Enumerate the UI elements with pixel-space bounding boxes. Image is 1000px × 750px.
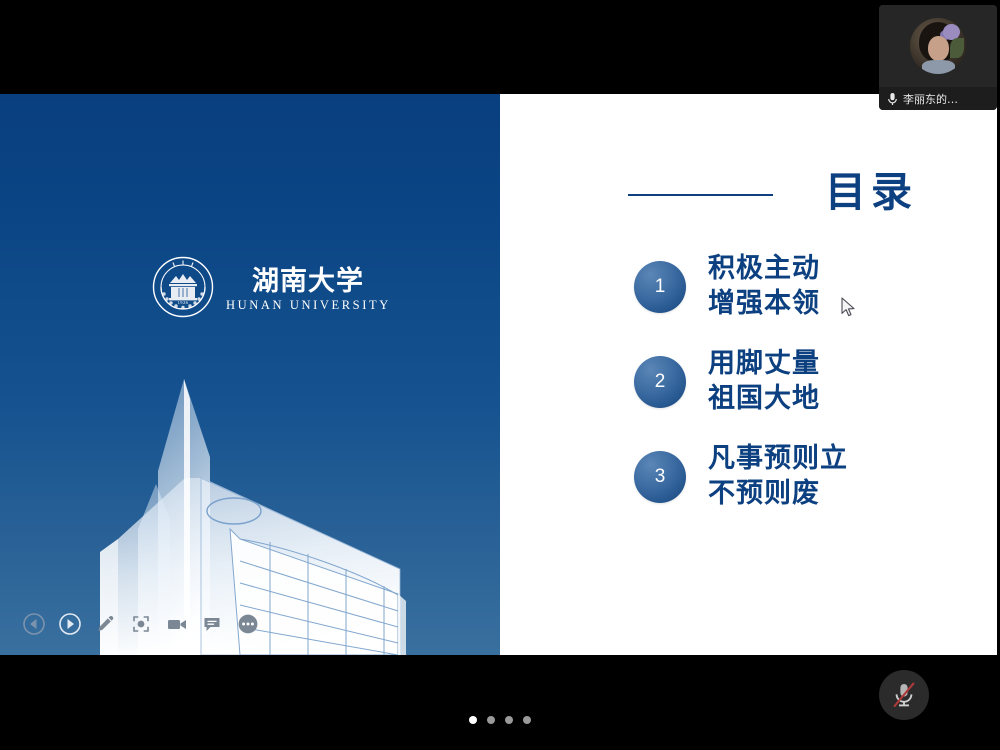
- laser-pointer-button[interactable]: [123, 609, 159, 639]
- toc-item-line1: 用脚丈量: [708, 347, 820, 382]
- toc-number-badge: 2: [634, 356, 686, 408]
- toc-item-line2: 不预则废: [708, 477, 848, 512]
- toc-item-line1: 积极主动: [708, 252, 820, 287]
- presenter-toolbar[interactable]: [16, 609, 266, 639]
- avatar-body: [922, 60, 955, 74]
- university-logo: 1926 湖南大学 HUNAN UNIVERSITY: [152, 254, 357, 320]
- toc-item-line1: 凡事预则立: [708, 442, 848, 477]
- mute-toggle-button[interactable]: [879, 670, 929, 720]
- list-item[interactable]: 1 积极主动 增强本领: [634, 252, 994, 321]
- university-name-en: HUNAN UNIVERSITY: [226, 299, 391, 312]
- toc-item-line2: 祖国大地: [708, 382, 820, 417]
- slide-left-panel: 1926 湖南大学 HUNAN UNIVERSITY: [0, 94, 500, 655]
- title-rule-divider: [628, 194, 773, 196]
- toc-number-badge: 1: [634, 261, 686, 313]
- more-options-button[interactable]: [230, 609, 266, 639]
- list-item[interactable]: 3 凡事预则立 不预则废: [634, 442, 994, 511]
- table-of-contents-list: 1 积极主动 增强本领 2 用脚丈量 祖国大地 3 凡: [634, 252, 994, 537]
- participant-name: 李丽东的…: [903, 91, 958, 107]
- avatar-face: [928, 36, 949, 61]
- microphone-muted-icon: [891, 681, 917, 709]
- next-slide-button[interactable]: [52, 609, 88, 639]
- list-item[interactable]: 2 用脚丈量 祖国大地: [634, 347, 994, 416]
- university-name-cn-calligraphy: 湖南大学: [234, 263, 382, 297]
- page-dot-1[interactable]: [469, 716, 477, 724]
- page-indicator-dots[interactable]: [0, 713, 1000, 727]
- university-name-cn: 湖南大学: [252, 265, 364, 297]
- page-dot-3[interactable]: [505, 716, 513, 724]
- toc-item-label: 积极主动 增强本领: [708, 252, 820, 321]
- screen: 1926 湖南大学 HUNAN UNIVERSITY: [0, 0, 1000, 750]
- chat-button[interactable]: [195, 609, 231, 639]
- slide-title-row: 目录: [628, 164, 978, 220]
- avatar: [910, 18, 966, 74]
- hunan-university-seal-icon: 1926: [152, 256, 214, 318]
- slide-content-panel: 目录 1 积极主动 增强本领 2 用脚丈量 祖国大地: [500, 94, 997, 655]
- toc-number-badge: 3: [634, 451, 686, 503]
- page-title: 目录: [825, 172, 917, 213]
- pen-annotation-button[interactable]: [87, 609, 123, 639]
- video-button[interactable]: [159, 609, 195, 639]
- avatar-leaf: [950, 38, 964, 58]
- participant-video-thumbnail[interactable]: 李丽东的…: [879, 5, 997, 110]
- toc-item-label: 用脚丈量 祖国大地: [708, 347, 820, 416]
- presentation-slide[interactable]: 1926 湖南大学 HUNAN UNIVERSITY: [0, 94, 997, 655]
- toc-item-line2: 增强本领: [708, 287, 820, 322]
- page-dot-2[interactable]: [487, 716, 495, 724]
- microphone-icon: [887, 92, 898, 106]
- page-dot-4[interactable]: [523, 716, 531, 724]
- previous-slide-button[interactable]: [16, 609, 52, 639]
- participant-label-bar: 李丽东的…: [879, 87, 997, 110]
- participant-video-area: [879, 5, 997, 87]
- svg-text:1926: 1926: [178, 300, 189, 305]
- toc-item-label: 凡事预则立 不预则废: [708, 442, 848, 511]
